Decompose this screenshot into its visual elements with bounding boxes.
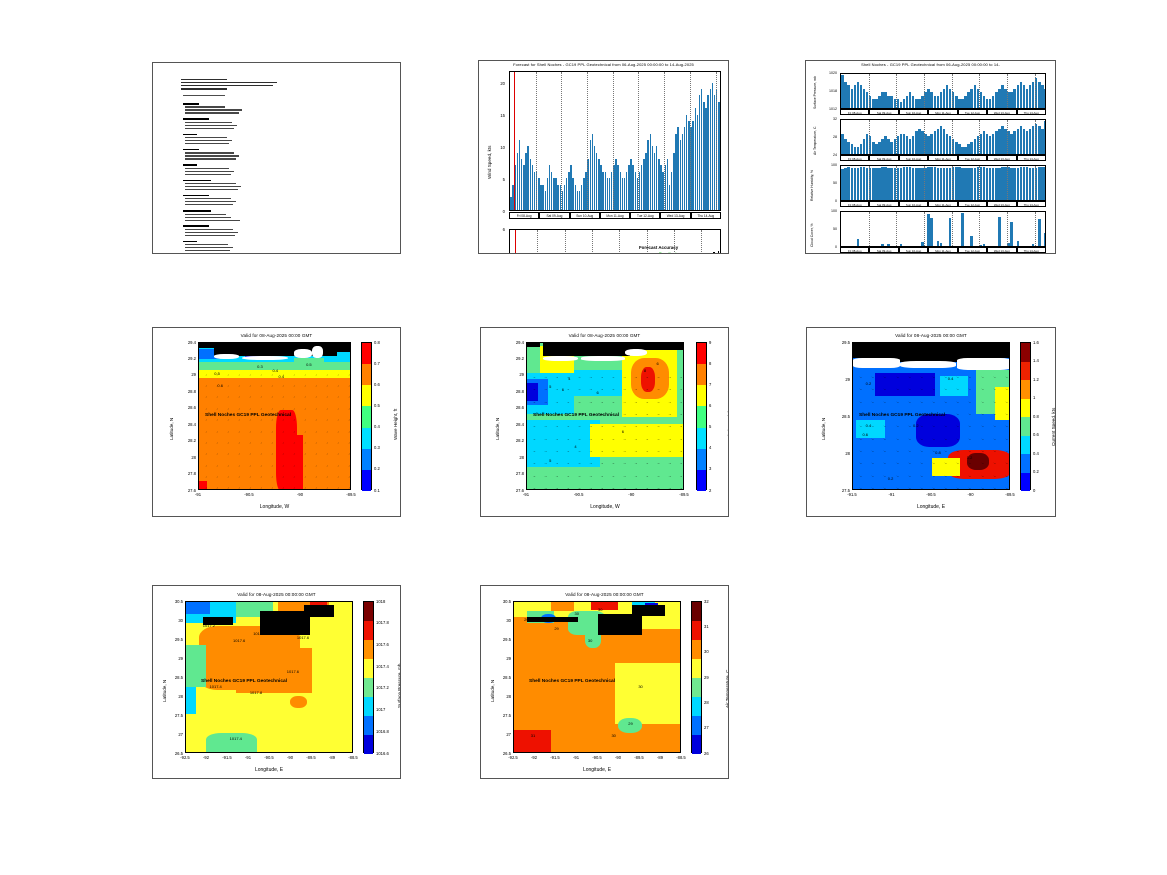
contour-label: 0.2 (913, 423, 919, 428)
panel-met-timeseries[interactable]: Shell Noches - GC19 PPL Geotechnical fro… (805, 60, 1056, 254)
doc-line (185, 106, 225, 107)
flow-vector-arrow: → (646, 474, 649, 478)
contour-label: 1017.4 (253, 631, 265, 636)
gridline (537, 230, 538, 254)
doc-line (185, 174, 231, 175)
contour-label: 5 (549, 384, 551, 389)
gridline (869, 120, 870, 154)
flow-vector-arrow: → (623, 375, 626, 379)
day-band-label: Thu 14-Aug (1017, 247, 1046, 253)
wind-map-colorbar-label: Wind Speed, kts (727, 407, 729, 440)
flow-vector-arrow: → (679, 375, 682, 379)
contour-label: 29 (524, 617, 528, 622)
bar (940, 243, 942, 246)
day-band-label: Tue 12-Aug (958, 155, 987, 161)
colorbar-segment (1021, 380, 1030, 399)
gridline (869, 74, 870, 108)
flow-vector-arrow: → (657, 400, 660, 404)
doc-header-line (181, 85, 273, 86)
gridline (896, 120, 897, 154)
y-tick-label: 29.5 (491, 637, 511, 642)
y-tick-label: 0 (487, 209, 505, 214)
flow-vector-arrow: → (657, 461, 660, 465)
day-band-label: Wed 13-Aug (660, 212, 690, 219)
flow-vector-arrow: → (600, 375, 603, 379)
x-tick-label: -91.5 (218, 755, 236, 760)
contour-band (186, 602, 210, 614)
doc-line (185, 217, 231, 218)
flow-vector-arrow: → (668, 387, 671, 391)
flow-vector-arrow: → (679, 424, 682, 428)
doc-line (185, 250, 230, 251)
doc-section-heading (183, 164, 197, 166)
temp-map-colorbar[interactable] (691, 601, 702, 753)
gridline (1007, 166, 1008, 200)
colorbar-tick-label: 0.4 (1033, 451, 1039, 456)
coastline-mask (543, 356, 578, 361)
flow-vector-arrow: → (634, 461, 637, 465)
colorbar-tick-label: 32 (704, 599, 709, 604)
day-band-label: Tue 12-Aug (630, 212, 660, 219)
land-mask (199, 343, 223, 348)
panel-surface-pressure-map[interactable]: Valid for 08-Aug-2025 00:00:00 GMT 1017.… (152, 585, 401, 779)
flow-vector-arrow: → (623, 461, 626, 465)
y-tick-label: 27.5 (163, 713, 183, 718)
flow-vector-arrow: → (612, 474, 615, 478)
flow-vector-arrow: → (567, 400, 570, 404)
gridline (924, 120, 925, 154)
flow-vector-arrow: → (346, 486, 351, 490)
coastline-mask (312, 346, 323, 358)
bar (970, 236, 972, 246)
doc-header-line (181, 88, 227, 89)
colorbar-tick-label: 1.2 (1033, 377, 1039, 382)
y-tick-label: 28 (176, 455, 196, 460)
met-subplot-1-ylabel: Air Temperature, C (813, 127, 817, 155)
flow-vector-arrow: → (612, 437, 615, 441)
current-map-station-label: Shell Noches GC19 PPL Geotechnical (859, 413, 945, 418)
y-tick-label: 28.5 (830, 414, 850, 419)
colorbar-tick-label: 9 (709, 340, 711, 345)
flow-vector-arrow: → (1004, 485, 1009, 490)
y-tick-label: 30 (491, 618, 511, 623)
panel-wave-height-map[interactable]: Valid for 08-Aug-2025 00:00 GMT →→→→→→→→… (152, 327, 401, 517)
flow-vector-arrow: → (646, 375, 649, 379)
flow-vector-arrow: → (634, 437, 637, 441)
x-tick-label: -91 (239, 755, 257, 760)
contour-label: 0.2 (888, 476, 894, 481)
x-tick-label: -91.5 (546, 755, 564, 760)
y-tick-label: 100 (820, 163, 837, 167)
contour-label: 6 (562, 387, 564, 392)
x-tick-label: -91 (567, 755, 585, 760)
contour-label: 0.4 (948, 376, 954, 381)
flow-vector-arrow: → (623, 437, 626, 441)
contour-label: 1017.6 (287, 669, 299, 674)
gridline (924, 166, 925, 200)
y-tick-label: 29.4 (504, 340, 524, 345)
colorbar-segment (697, 385, 706, 406)
wave-map-title: Valid for 08-Aug-2025 00:00 GMT (153, 333, 400, 338)
panel-forecast-text[interactable] (152, 62, 401, 254)
wave-map-colorbar[interactable] (361, 342, 372, 490)
wind-map-colorbar[interactable] (696, 342, 707, 490)
colorbar-tick-label: 0.6 (1033, 432, 1039, 437)
flow-vector-arrow: → (657, 412, 660, 416)
gridline (896, 74, 897, 108)
gridline (952, 74, 953, 108)
contour-band (236, 648, 312, 694)
gridline (924, 212, 925, 246)
met-subplot-3-axes[interactable] (840, 211, 1046, 247)
met-subplot-3-ylabel: Cloud Cover, % (810, 223, 814, 247)
panel-wind-wave-timeseries[interactable]: Forecast for Shell Noches - GC19 PPL Geo… (478, 60, 729, 254)
day-band-label: Tue 12-Aug (958, 201, 987, 207)
bar (961, 213, 963, 246)
flow-vector-arrow: → (634, 474, 637, 478)
colorbar-tick-label: 1017.4 (376, 664, 389, 669)
contour-label: 0.3 (257, 364, 263, 369)
flow-vector-arrow: → (634, 486, 637, 490)
met-subplot-0-axes[interactable] (840, 73, 1046, 109)
y-tick-label: 0 (820, 199, 837, 203)
doc-section-heading (183, 225, 209, 227)
colorbar-segment (692, 735, 701, 754)
y-tick-label: 28.5 (491, 675, 511, 680)
doc-section-heading (183, 180, 211, 182)
flow-vector-arrow: → (668, 400, 671, 404)
flow-vector-arrow: → (544, 400, 547, 404)
flow-vector-arrow: → (589, 400, 592, 404)
y-tick-label: 28.6 (504, 405, 524, 410)
colorbar-segment (1021, 362, 1030, 381)
panel-current-speed-map[interactable]: Valid for 08-Aug-2025 00:00 GMT →→→→→→→→… (806, 327, 1056, 517)
flow-vector-arrow: → (544, 375, 547, 379)
contour-label: 6 (622, 429, 624, 434)
flow-vector-arrow: → (313, 486, 318, 490)
day-band-label: Sat 09-Aug (869, 247, 898, 253)
gridline (690, 72, 691, 210)
flow-vector-arrow: → (623, 486, 626, 490)
flow-vector-arrow: → (555, 375, 558, 379)
colorbar-segment (364, 735, 373, 754)
gridline (979, 74, 980, 108)
land-mask (598, 614, 642, 635)
bar (1044, 89, 1046, 108)
flow-vector-arrow: → (612, 486, 615, 490)
flow-vector-arrow: → (555, 449, 558, 453)
day-band-label: Tue 12-Aug (958, 247, 987, 253)
doc-line (183, 95, 225, 96)
colorbar-tick-label: 0.6 (374, 382, 380, 387)
colorbar-tick-label: 0.7 (374, 361, 380, 366)
flow-vector-arrow: → (578, 375, 581, 379)
y-tick-label: 28.6 (176, 405, 196, 410)
x-tick-label: -91 (189, 492, 207, 497)
colorbar-segment (692, 697, 701, 716)
day-band-label: Fri 08-Aug (840, 109, 869, 115)
y-tick-label: 29 (176, 372, 196, 377)
contour-label: 30 (638, 684, 642, 689)
current-map-colorbar[interactable] (1020, 342, 1031, 490)
flow-vector-arrow: → (600, 474, 603, 478)
contour-label: 0.4 (866, 423, 872, 428)
y-tick-label: 32 (820, 117, 837, 121)
doc-line (185, 137, 227, 138)
gridline (664, 72, 665, 210)
colorbar-tick-label: 8 (709, 361, 711, 366)
colorbar-segment (364, 602, 373, 621)
contour-label: 1017.2 (203, 623, 215, 628)
bar (881, 244, 883, 246)
doc-line (185, 214, 226, 215)
flow-vector-arrow: → (668, 437, 671, 441)
x-tick-label: -92.5 (504, 755, 522, 760)
land-mask (632, 605, 666, 616)
y-tick-label: 29.2 (176, 356, 196, 361)
flow-vector-arrow: → (544, 437, 547, 441)
doc-line (185, 112, 239, 113)
day-band-label: Sat 09-Aug (869, 109, 898, 115)
y-tick-label: 100 (820, 209, 837, 213)
bar (720, 249, 721, 254)
colorbar-segment (1021, 343, 1030, 362)
flow-vector-arrow: → (578, 486, 581, 490)
bar (1044, 167, 1046, 200)
flow-vector-arrow: → (589, 474, 592, 478)
contour-band (615, 663, 681, 724)
flow-vector-arrow: → (589, 424, 592, 428)
colorbar-segment (692, 621, 701, 640)
wind-map-xlabel: Longitude, W (526, 504, 684, 510)
land-mask (527, 343, 540, 347)
contour-label: 29 (554, 626, 558, 631)
wind-speed-axes[interactable] (509, 71, 721, 211)
x-tick-label: -90.5 (260, 755, 278, 760)
flow-vector-arrow: → (679, 461, 682, 465)
doc-line (185, 152, 234, 153)
gridline (924, 74, 925, 108)
colorbar-tick-label: 0 (1033, 488, 1035, 493)
colorbar-segment (697, 343, 706, 364)
flow-vector-arrow: → (533, 449, 536, 453)
wind-map-title: Valid for 08-Aug-2025 00:00 GMT (481, 333, 728, 338)
bar (1010, 222, 1012, 246)
contour-label: 0.5 (214, 371, 220, 376)
gridline (619, 230, 620, 254)
flow-vector-arrow: → (612, 461, 615, 465)
flow-vector-arrow: → (567, 474, 570, 478)
contour-label: 0.6 (862, 432, 868, 437)
gridline (1007, 74, 1008, 108)
flow-vector-arrow: → (668, 486, 671, 490)
temp-map-axes[interactable]: 293030303029303129 (513, 601, 681, 753)
colorbar-segment (1021, 399, 1030, 418)
day-band-label: Thu 14-Aug (1017, 155, 1046, 161)
contour-label: 0.6 (217, 383, 223, 388)
flow-vector-arrow: → (291, 486, 296, 490)
flow-vector-arrow: → (567, 437, 570, 441)
colorbar-segment (1021, 417, 1030, 436)
gridline (565, 230, 566, 254)
panel-air-temperature-map[interactable]: Valid for 08-Aug-2025 00:00:00 GMT 29303… (480, 585, 729, 779)
wave-map-station-label: Shell Noches GC19 PPL Geotechnical (205, 413, 291, 418)
met-subplot-2-ylabel: Relative Humidity, % (810, 170, 814, 201)
x-tick-label: -90.5 (240, 492, 258, 497)
colorbar-segment (692, 640, 701, 659)
colorbar-segment (1021, 436, 1030, 455)
contour-label: 1017.8 (250, 690, 262, 695)
contour-label: 4 (574, 444, 576, 449)
gridline (1035, 74, 1036, 108)
flow-vector-arrow: → (600, 449, 603, 453)
colorbar-segment (697, 428, 706, 449)
bar (983, 244, 985, 246)
flow-vector-arrow: → (533, 486, 536, 490)
coastline-mask (294, 349, 312, 358)
flow-vector-arrow: → (634, 400, 637, 404)
doc-line (185, 158, 236, 159)
gridline (952, 166, 953, 200)
colorbar-segment (692, 602, 701, 621)
colorbar-segment (692, 716, 701, 735)
colorbar-tick-label: 6 (709, 403, 711, 408)
doc-line (185, 198, 231, 199)
current-map-title: Valid for 08-Aug-2025 00:00 GMT (807, 333, 1055, 338)
colorbar-tick-label: 1017.6 (376, 642, 389, 647)
colorbar-tick-label: 1016.6 (376, 751, 389, 756)
flow-vector-arrow: → (679, 449, 682, 453)
flow-vector-arrow: → (578, 474, 581, 478)
pressure-map-colorbar[interactable] (363, 601, 374, 753)
flow-vector-arrow: → (589, 375, 592, 379)
gridline (587, 72, 588, 210)
contour-label: 1017.6 (233, 638, 245, 643)
day-band-label: Mon 11-Aug (928, 247, 957, 253)
contour-label: 1.2 (967, 455, 973, 460)
bar (998, 217, 1000, 246)
gridline (1035, 120, 1036, 154)
met-subplot-1-axes[interactable] (840, 119, 1046, 155)
y-tick-label: 29 (504, 372, 524, 377)
x-tick-label: -89.5 (630, 755, 648, 760)
y-tick-label: 0 (820, 245, 837, 249)
day-band-label: Thu 14-Aug (1017, 109, 1046, 115)
doc-line (185, 155, 239, 156)
doc-line (185, 168, 229, 169)
gridline (592, 230, 593, 254)
contour-band (527, 383, 538, 401)
wind-map-station-label: Shell Noches GC19 PPL Geotechnical (533, 413, 619, 418)
doc-section-heading (183, 195, 209, 197)
flow-vector-arrow: → (646, 387, 649, 391)
flow-vector-arrow: → (544, 387, 547, 391)
x-tick-label: -89 (323, 755, 341, 760)
doc-line (185, 183, 236, 184)
land-mask (543, 343, 630, 356)
panel-wind-speed-map[interactable]: Valid for 08-Aug-2025 00:00 GMT →→→→→→→→… (480, 327, 729, 517)
x-tick-label: -89.5 (675, 492, 693, 497)
flow-vector-arrow: → (533, 375, 536, 379)
y-tick-label: 1012 (820, 107, 837, 111)
gridline (716, 72, 717, 210)
flow-vector-arrow: → (589, 486, 592, 490)
y-tick-label: 10 (487, 145, 505, 150)
doc-section-heading (183, 103, 199, 105)
colorbar-tick-label: 0.2 (1033, 469, 1039, 474)
pressure-map-station-label: Shell Noches GC19 PPL Geotechnical (201, 679, 287, 684)
doc-line (185, 244, 228, 245)
met-subplot-2-axes[interactable] (840, 165, 1046, 201)
coastline-mask (625, 349, 647, 356)
doc-line (185, 229, 233, 230)
colorbar-tick-label: 27 (704, 725, 709, 730)
colorbar-tick-label: 5 (709, 424, 711, 429)
colorbar-segment (362, 449, 371, 470)
gridline (1007, 212, 1008, 246)
colorbar-tick-label: 2 (709, 488, 711, 493)
colorbar-tick-label: 1017.2 (376, 685, 389, 690)
flow-vector-arrow: → (555, 474, 558, 478)
colorbar-tick-label: 0.1 (374, 488, 380, 493)
colorbar-tick-label: 4 (709, 445, 711, 450)
flow-vector-arrow: → (623, 412, 626, 416)
contour-label: 4 (568, 376, 570, 381)
pressure-map-axes[interactable]: 1017.21017.41017.61017.81017.41017.41017… (185, 601, 353, 753)
flow-vector-arrow: → (679, 387, 682, 391)
coastline-mask (957, 358, 1010, 370)
y-tick-label: 27 (491, 732, 511, 737)
contour-band (591, 602, 618, 610)
day-band-label: Sun 10-Aug (899, 109, 928, 115)
bar (857, 239, 859, 246)
colorbar-tick-label: 1.4 (1033, 358, 1039, 363)
doc-line (185, 140, 232, 141)
wind-map-ylabel: Latitude, N (495, 418, 500, 440)
day-band-label: Sun 10-Aug (899, 201, 928, 207)
doc-section-heading (183, 118, 209, 120)
flow-vector-arrow: → (555, 424, 558, 428)
flow-vector-arrow: → (646, 412, 649, 416)
bar (716, 253, 718, 254)
flow-vector-arrow: → (668, 449, 671, 453)
x-tick-label: -88.5 (344, 755, 362, 760)
doc-line (185, 189, 238, 190)
day-band-label: Mon 11-Aug (928, 201, 957, 207)
wave-height-axes[interactable] (509, 229, 721, 254)
y-tick-label: 29 (491, 656, 511, 661)
y-tick-label: 15 (487, 113, 505, 118)
colorbar-tick-label: 31 (704, 624, 709, 629)
colorbar-tick-label: 1.6 (1033, 340, 1039, 345)
windwave-title: Forecast for Shell Noches - GC19 PPL Geo… (479, 62, 728, 67)
temp-map-ylabel: Latitude, N (490, 680, 495, 702)
metpanel-title: Shell Noches - GC19 PPL Geotechnical fro… (806, 62, 1055, 67)
x-tick-label: -90 (281, 755, 299, 760)
flow-vector-arrow: → (578, 461, 581, 465)
flow-vector-arrow: → (533, 437, 536, 441)
flow-vector-arrow: → (646, 400, 649, 404)
temp-map-title: Valid for 08-Aug-2025 00:00:00 GMT (481, 592, 728, 597)
analysis-forecast-divider (514, 72, 515, 210)
flow-vector-arrow: → (657, 424, 660, 428)
flow-vector-arrow: → (600, 387, 603, 391)
y-tick-label: 28 (491, 694, 511, 699)
colorbar-segment (362, 428, 371, 449)
flow-vector-arrow: → (679, 474, 682, 478)
flow-vector-arrow: → (555, 387, 558, 391)
x-tick-label: -89.5 (342, 492, 360, 497)
